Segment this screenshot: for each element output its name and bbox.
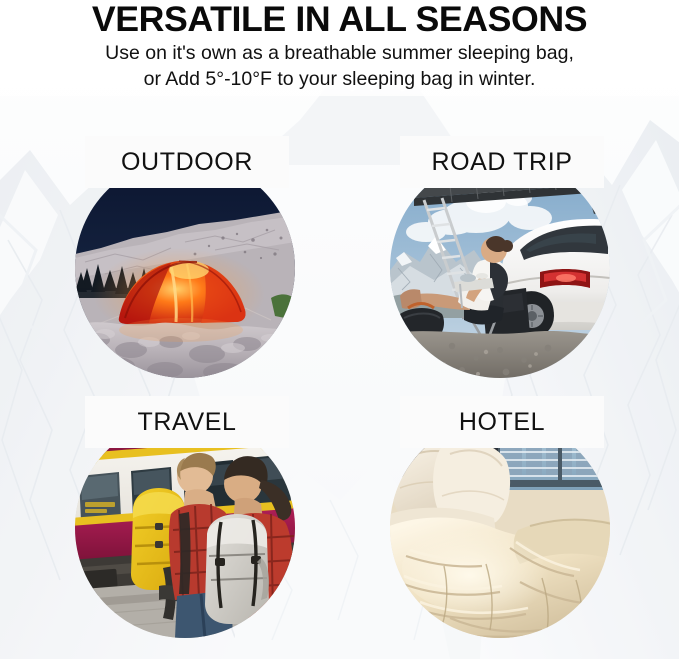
page-subtitle: Use on it's own as a breathable summer s… (0, 41, 679, 92)
use-case-card-travel: TRAVEL (55, 396, 315, 656)
photo-outdoor-tent (75, 158, 295, 378)
label-text: OUTDOOR (121, 148, 253, 177)
use-case-card-outdoor: OUTDOOR (55, 136, 315, 396)
use-case-card-hotel: HOTEL (370, 396, 630, 656)
photo-hotel-bed (390, 418, 610, 638)
subtitle-line-2: or Add 5°-10°F to your sleeping bag in w… (0, 67, 679, 93)
label-text: HOTEL (459, 408, 545, 437)
card-label-travel: TRAVEL (85, 396, 289, 448)
label-text: ROAD TRIP (431, 148, 572, 177)
card-label-outdoor: OUTDOOR (85, 136, 289, 188)
header: VERSATILE IN ALL SEASONS Use on it's own… (0, 0, 679, 96)
photo-road-trip-car (390, 158, 610, 378)
photo-travel-train (75, 418, 295, 638)
use-case-card-road-trip: ROAD TRIP (370, 136, 630, 396)
card-label-road-trip: ROAD TRIP (400, 136, 604, 188)
card-label-hotel: HOTEL (400, 396, 604, 448)
use-case-grid: OUTDOOR (0, 0, 679, 659)
label-text: TRAVEL (138, 408, 237, 437)
page-title: VERSATILE IN ALL SEASONS (0, 2, 679, 37)
subtitle-line-1: Use on it's own as a breathable summer s… (0, 41, 679, 67)
